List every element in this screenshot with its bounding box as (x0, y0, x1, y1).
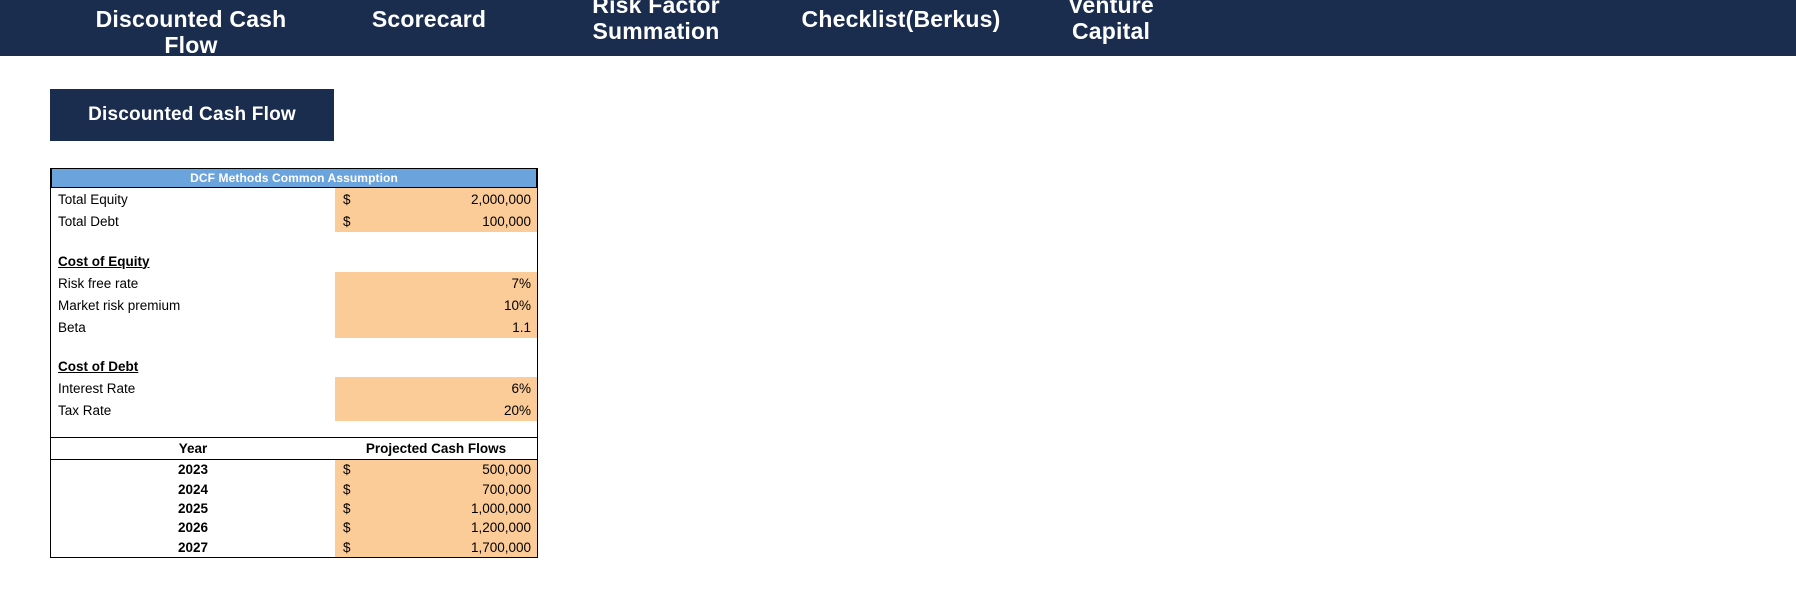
input-cash-flow-2026[interactable]: $ 1,200,000 (335, 518, 537, 537)
projected-cash-flows-table: Year Projected Cash Flows 2023 $ 500,000… (51, 437, 537, 557)
section-label-cost-of-debt: Cost of Debt (51, 359, 335, 374)
table-row: Total Equity $ 2,000,000 (51, 188, 537, 210)
cell-year: 2026 (51, 520, 335, 535)
nav-item-checklist-berkus[interactable]: Checklist(Berkus) (780, 6, 1022, 32)
table-row: Total Debt $ 100,000 (51, 210, 537, 232)
nav-item-venture-capital[interactable]: Venture Capital (1030, 0, 1192, 45)
row-label-tax-rate: Tax Rate (51, 403, 335, 418)
currency-symbol: $ (343, 214, 351, 229)
input-cash-flow-2024[interactable]: $ 700,000 (335, 479, 537, 498)
cell-amount: 1,200,000 (471, 520, 531, 535)
cell-year: 2025 (51, 501, 335, 516)
column-header-projected-cash-flows: Projected Cash Flows (335, 441, 537, 456)
dcf-assumptions-table: DCF Methods Common Assumption Total Equi… (50, 168, 538, 558)
table-row: 2025 $ 1,000,000 (51, 499, 537, 518)
empty-cell (335, 355, 537, 377)
input-total-equity[interactable]: $ 2,000,000 (335, 188, 537, 210)
row-spacer (51, 232, 537, 250)
currency-symbol: $ (343, 192, 351, 207)
table-row: Interest Rate 6% (51, 377, 537, 399)
table-row: Tax Rate 20% (51, 399, 537, 421)
table-row: Market risk premium 10% (51, 294, 537, 316)
row-label-risk-free-rate: Risk free rate (51, 276, 335, 291)
table-row: 2023 $ 500,000 (51, 460, 537, 479)
nav-item-risk-factor-summation[interactable]: Risk Factor Summation (570, 0, 742, 45)
input-tax-rate[interactable]: 20% (335, 399, 537, 421)
currency-symbol: $ (343, 540, 351, 555)
currency-symbol: $ (343, 482, 351, 497)
sheet-header-title: DCF Methods Common Assumption (51, 168, 537, 188)
empty-cell (335, 250, 537, 272)
currency-symbol: $ (343, 501, 351, 516)
table-row: 2024 $ 700,000 (51, 479, 537, 498)
input-cash-flow-2023[interactable]: $ 500,000 (335, 460, 537, 479)
value-total-equity: 2,000,000 (471, 192, 531, 207)
section-header-cost-of-debt: Cost of Debt (51, 355, 537, 377)
section-header-cost-of-equity: Cost of Equity (51, 250, 537, 272)
input-cash-flow-2025[interactable]: $ 1,000,000 (335, 499, 537, 518)
cell-year: 2023 (51, 462, 335, 477)
row-label-beta: Beta (51, 320, 335, 335)
table-row: Risk free rate 7% (51, 272, 537, 294)
nav-item-discounted-cash-flow[interactable]: Discounted Cash Flow (60, 6, 322, 59)
cash-flow-header-row: Year Projected Cash Flows (51, 438, 537, 460)
nav-item-scorecard[interactable]: Scorecard (338, 6, 520, 32)
input-interest-rate[interactable]: 6% (335, 377, 537, 399)
section-label-cost-of-equity: Cost of Equity (51, 254, 335, 269)
row-label-market-risk-premium: Market risk premium (51, 298, 335, 313)
row-label-total-equity: Total Equity (51, 192, 335, 207)
column-header-year: Year (51, 441, 335, 456)
row-spacer (51, 338, 537, 355)
input-cash-flow-2027[interactable]: $ 1,700,000 (335, 538, 537, 557)
table-row: 2026 $ 1,200,000 (51, 518, 537, 537)
cell-amount: 500,000 (482, 462, 531, 477)
row-label-interest-rate: Interest Rate (51, 381, 335, 396)
input-beta[interactable]: 1.1 (335, 316, 537, 338)
cell-amount: 700,000 (482, 482, 531, 497)
cell-amount: 1,000,000 (471, 501, 531, 516)
table-row: 2027 $ 1,700,000 (51, 538, 537, 557)
table-row: Beta 1.1 (51, 316, 537, 338)
currency-symbol: $ (343, 462, 351, 477)
input-total-debt[interactable]: $ 100,000 (335, 210, 537, 232)
currency-symbol: $ (343, 520, 351, 535)
top-navigation-bar: Discounted Cash Flow Scorecard Risk Fact… (0, 0, 1796, 56)
input-market-risk-premium[interactable]: 10% (335, 294, 537, 316)
input-risk-free-rate[interactable]: 7% (335, 272, 537, 294)
cell-year: 2027 (51, 540, 335, 555)
cell-amount: 1,700,000 (471, 540, 531, 555)
page-title[interactable]: Discounted Cash Flow (50, 89, 334, 141)
cell-year: 2024 (51, 482, 335, 497)
value-total-debt: 100,000 (482, 214, 531, 229)
row-label-total-debt: Total Debt (51, 214, 335, 229)
